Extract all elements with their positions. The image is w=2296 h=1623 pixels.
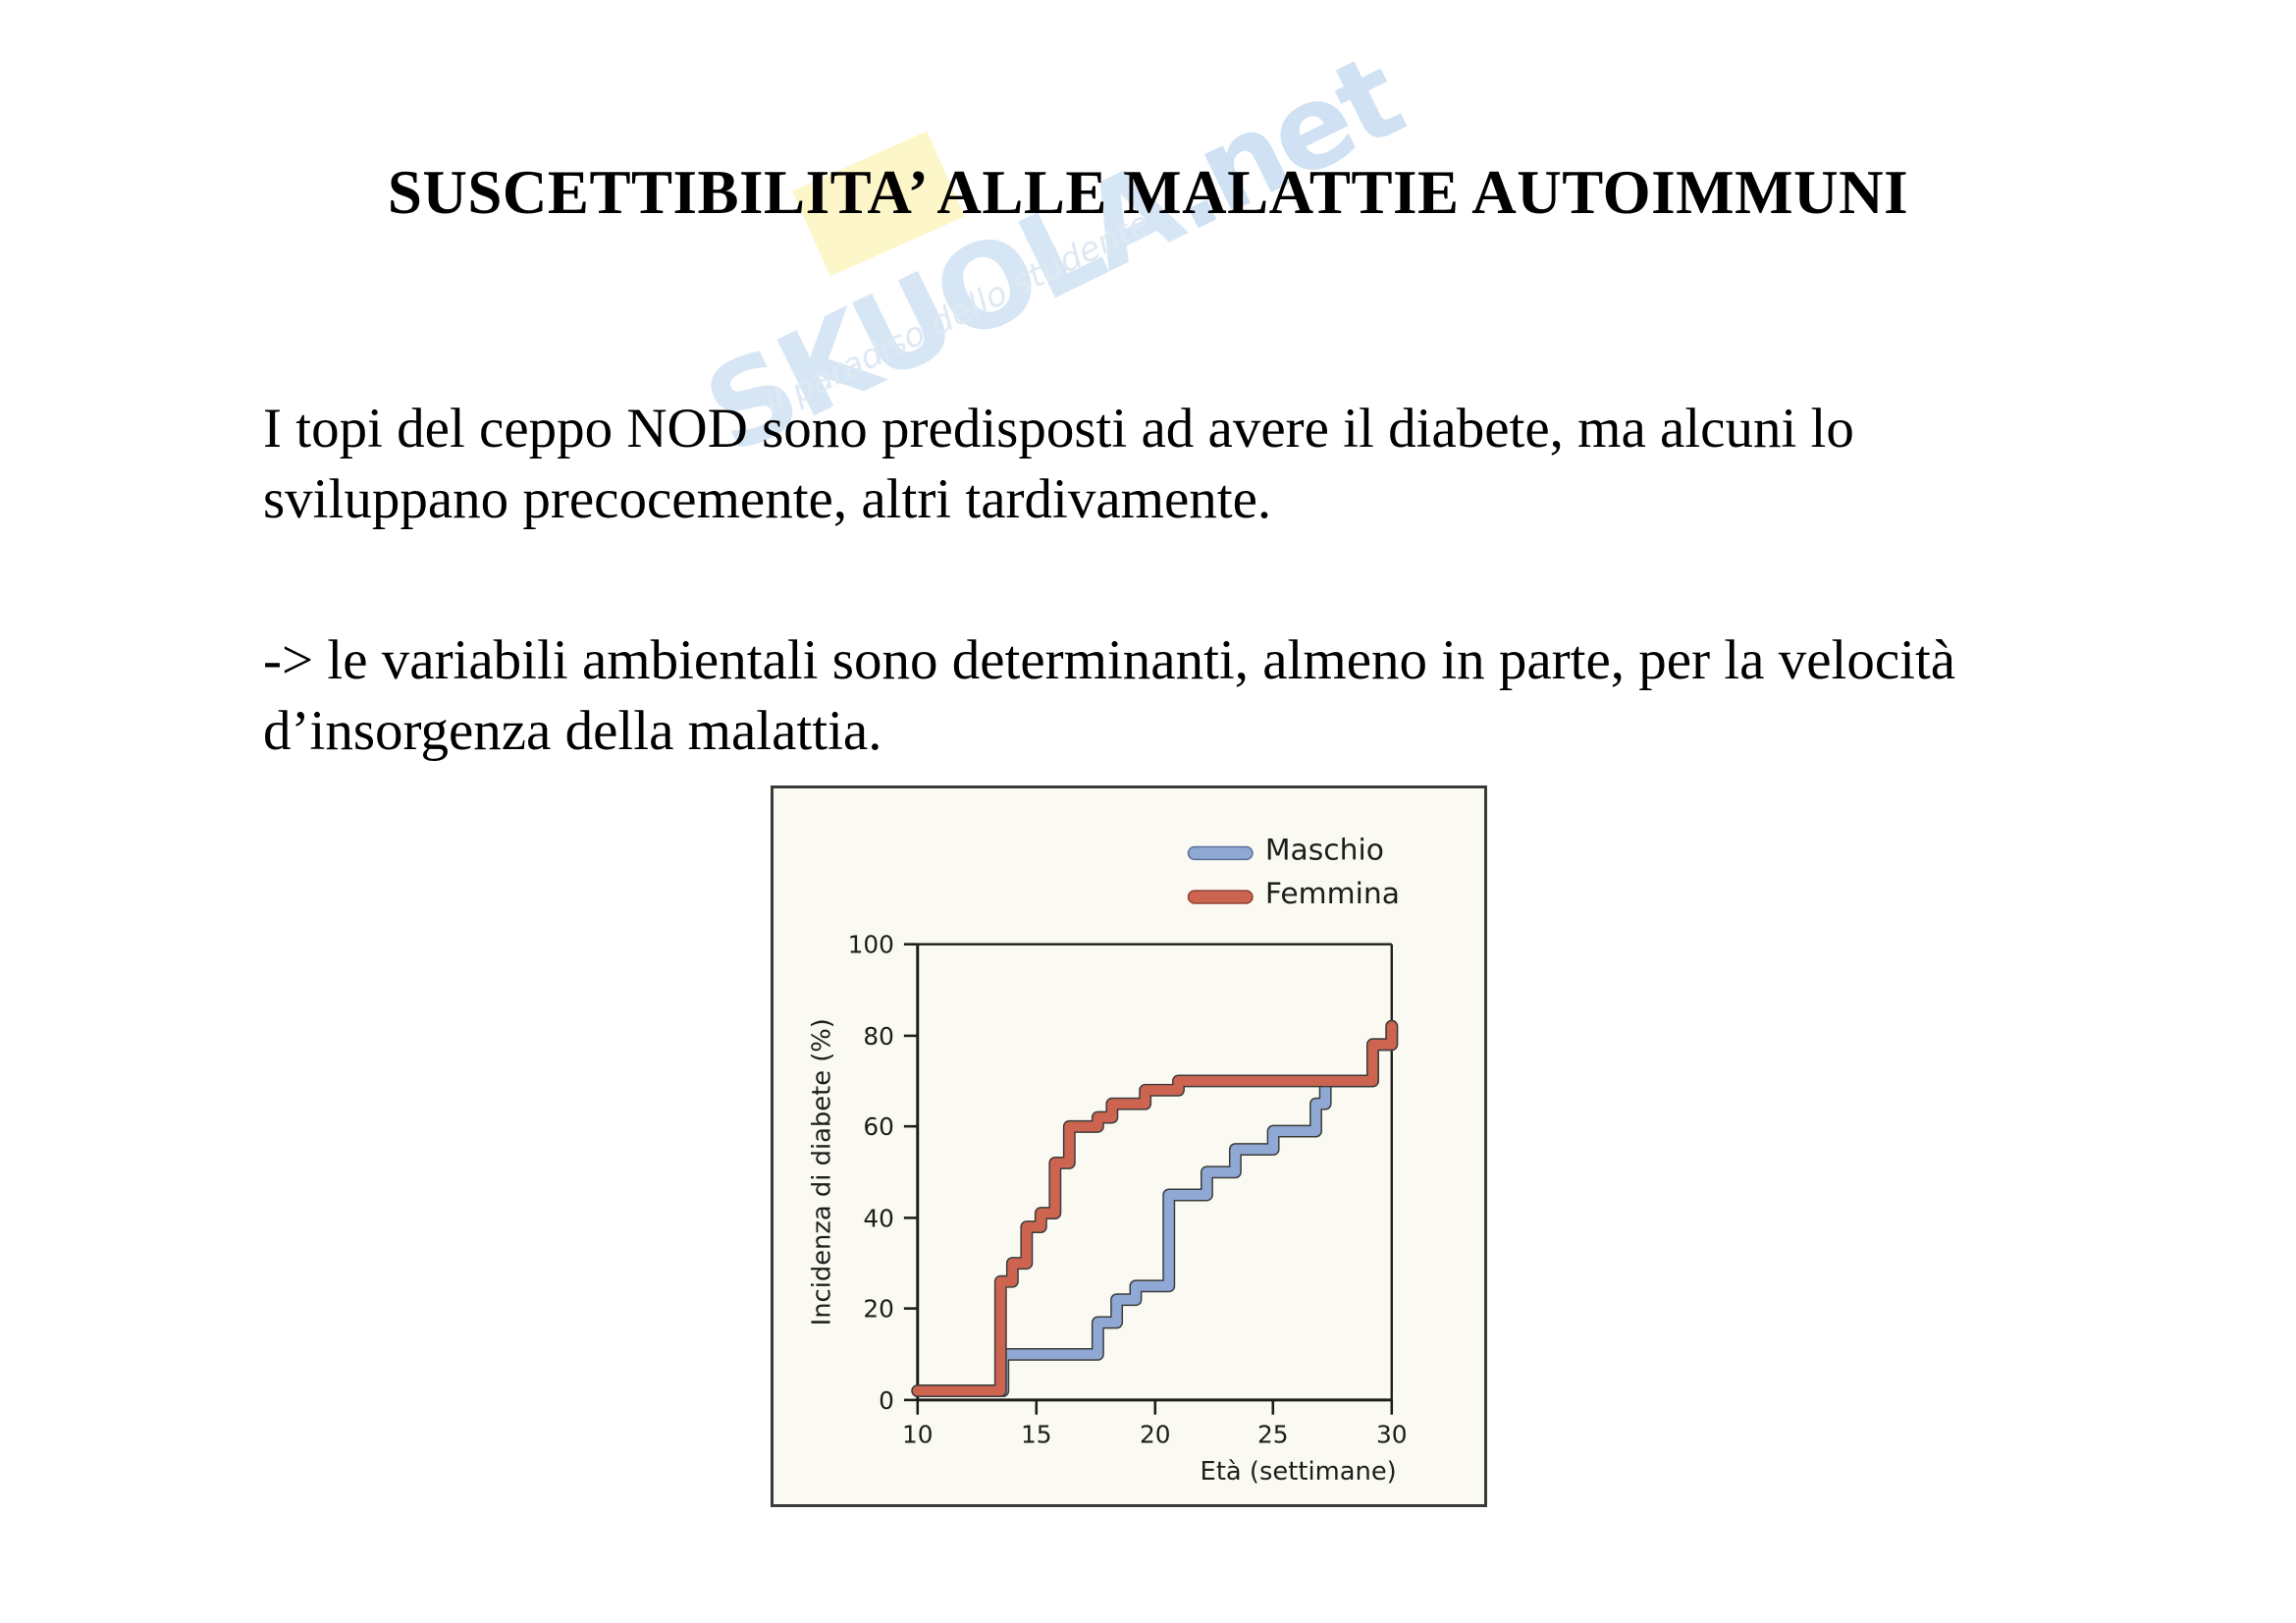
legend-swatch-maschio: [1188, 847, 1252, 860]
xtick-label-10: 10: [902, 1421, 934, 1449]
ytick-label-0: 0: [879, 1386, 894, 1415]
legend-swatch-femmina: [1188, 891, 1252, 903]
xtick-label-20: 20: [1140, 1421, 1171, 1449]
paragraph-conclusion: -> le variabili ambientali sono determin…: [263, 625, 2040, 768]
legend-label-femmina: Femmina: [1265, 877, 1400, 911]
diabetes-incidence-chart: Maschio Femmina 100 80 60 40 20 0: [774, 788, 1484, 1504]
page-title: SUSCETTIBILITA’ ALLE MALATTIE AUTOIMMUNI: [0, 157, 2296, 229]
legend-label-maschio: Maschio: [1265, 833, 1384, 867]
watermark-tagline: il paradiso dello studente: [759, 204, 1156, 425]
xtick-label-15: 15: [1021, 1421, 1052, 1449]
ytick-label-20: 20: [863, 1295, 894, 1324]
xtick-label-30: 30: [1376, 1421, 1408, 1449]
ytick-label-40: 40: [863, 1204, 894, 1232]
y-axis-title: Incidenza di diabete (%): [808, 1018, 837, 1325]
xtick-label-25: 25: [1257, 1421, 1289, 1449]
ytick-label-100: 100: [848, 931, 894, 959]
chart-figure: Maschio Femmina 100 80 60 40 20 0: [771, 785, 1487, 1507]
ytick-label-80: 80: [863, 1022, 894, 1051]
x-axis-title: Età (settimane): [1201, 1457, 1397, 1487]
ytick-label-60: 60: [863, 1112, 894, 1141]
paragraph-intro: I topi del ceppo NOD sono predisposti ad…: [263, 394, 2040, 536]
